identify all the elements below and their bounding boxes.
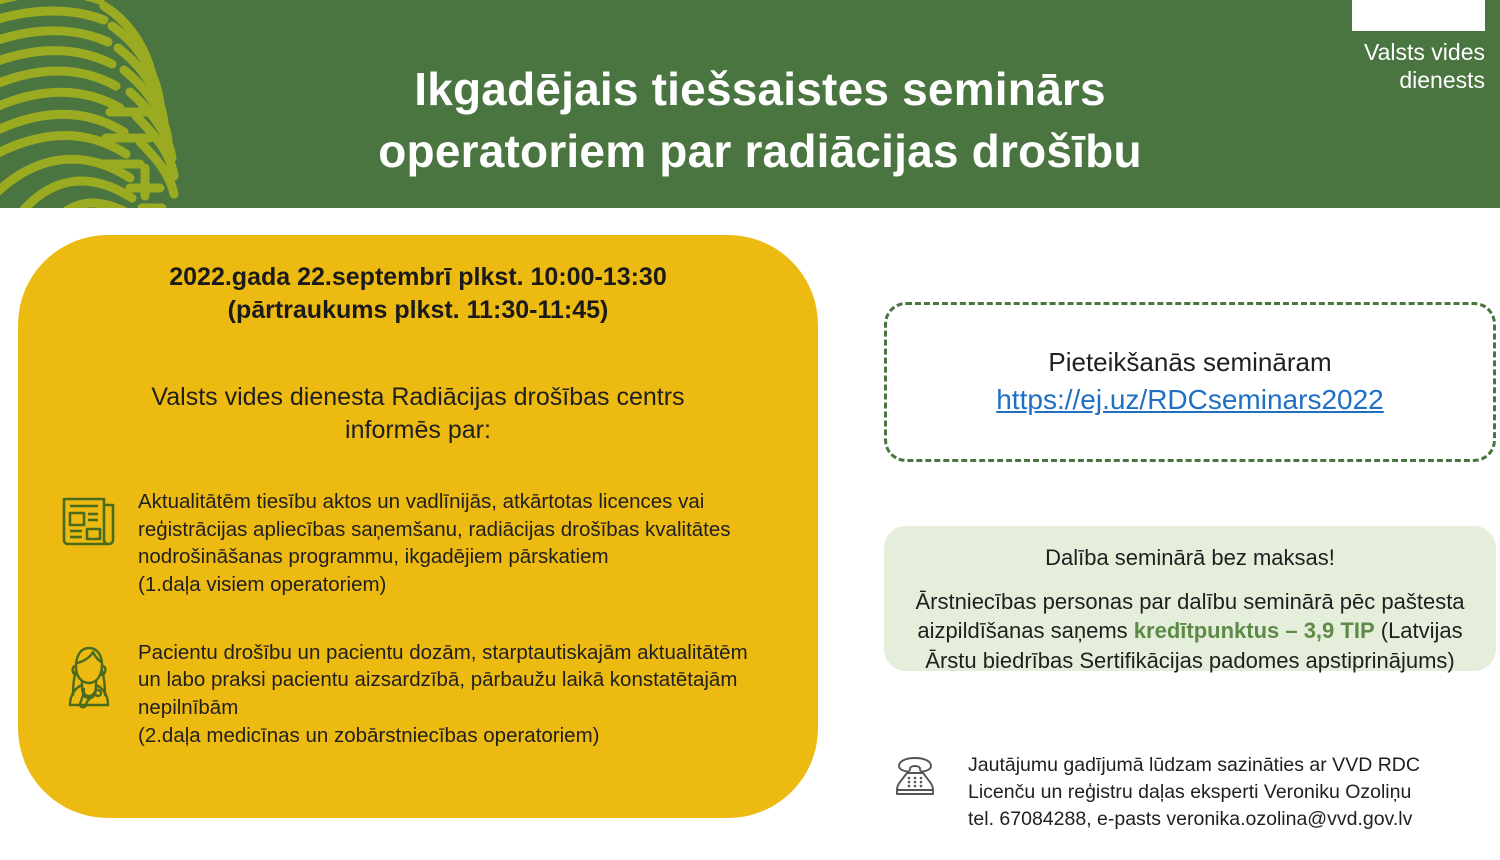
free-participation-text: Dalība seminārā bez maksas!: [896, 544, 1484, 573]
topic-1-line-2: reģistrācijas apliecības saņemšanu, radi…: [138, 516, 731, 544]
topic-1-note: (1.daļa visiem operatoriem): [138, 571, 731, 599]
brand-block: Valsts vides dienests: [1335, 0, 1485, 94]
credit-info-box: Dalība seminārā bez maksas! Ārstniecības…: [884, 526, 1496, 671]
topic-2-line-3: nepilnībām: [138, 694, 748, 722]
credit-line-3: Ārstu biedrības Sertifikācijas padomes a…: [896, 646, 1484, 675]
contact-text: Jautājumu gadījumā lūdzam sazināties ar …: [968, 752, 1420, 833]
seminar-break-line: (pārtraukums plkst. 11:30-11:45): [62, 294, 774, 327]
telephone-icon: [890, 752, 942, 798]
signup-label: Pieteikšanās semināram: [1048, 346, 1331, 380]
topic-2-line-1: Pacientu drošību un pacientu dozām, star…: [138, 639, 748, 667]
seminar-details-card: 2022.gada 22.septembrī plkst. 10:00-13:3…: [18, 235, 818, 818]
contact-line-2: Licenču un reģistru daļas eksperti Veron…: [968, 779, 1420, 806]
brand-name: Valsts vides dienests: [1335, 39, 1485, 94]
signup-link[interactable]: https://ej.uz/RDCseminars2022: [996, 382, 1384, 418]
credit-line-2: aizpildīšanas saņems kredītpunktus – 3,9…: [896, 616, 1484, 645]
topic-item-1-text: Aktualitātēm tiesību aktos un vadlīnijās…: [138, 488, 731, 599]
doctor-icon: [60, 639, 122, 709]
topic-item-2-text: Pacientu drošību un pacientu dozām, star…: [138, 639, 748, 750]
contact-block: Jautājumu gadījumā lūdzam sazināties ar …: [890, 752, 1500, 833]
page-title-line-2: operatoriem par radiācijas drošību: [250, 120, 1270, 182]
slide-root: Ikgadējais tiešsaistes seminārs operator…: [0, 0, 1500, 860]
page-title: Ikgadējais tiešsaistes seminārs operator…: [250, 58, 1270, 182]
topic-1-line-3: nodrošināšanas programmu, ikgadējiem pār…: [138, 543, 731, 571]
topic-1-line-1: Aktualitātēm tiesību aktos un vadlīnijās…: [138, 488, 731, 516]
credit-highlight: kredītpunktus – 3,9 TIP: [1134, 618, 1375, 643]
credit-line-2-suffix: (Latvijas: [1375, 618, 1463, 643]
seminar-intro-line-1: Valsts vides dienesta Radiācijas drošība…: [90, 381, 746, 414]
seminar-intro-line-2: informēs par:: [90, 414, 746, 447]
page-title-line-1: Ikgadējais tiešsaistes seminārs: [250, 58, 1270, 120]
vvd-logo-placeholder-icon: [1352, 0, 1485, 31]
credit-line-1: Ārstniecības personas par dalību seminār…: [896, 587, 1484, 616]
newspaper-icon: [60, 488, 122, 550]
seminar-datetime: 2022.gada 22.septembrī plkst. 10:00-13:3…: [52, 261, 784, 327]
contact-line-1: Jautājumu gadījumā lūdzam sazināties ar …: [968, 752, 1420, 779]
signup-box[interactable]: Pieteikšanās semināram https://ej.uz/RDC…: [884, 302, 1496, 462]
topic-2-note: (2.daļa medicīnas un zobārstniecības ope…: [138, 722, 748, 750]
topic-2-line-2: un labo praksi pacientu aizsardzībā, pār…: [138, 666, 748, 694]
contact-line-3: tel. 67084288, e-pasts veronika.ozolina@…: [968, 806, 1420, 833]
brand-name-line-2: dienests: [1335, 67, 1485, 95]
seminar-date-line: 2022.gada 22.septembrī plkst. 10:00-13:3…: [62, 261, 774, 294]
credit-info-text: Ārstniecības personas par dalību seminār…: [896, 587, 1484, 675]
header-banner: Ikgadējais tiešsaistes seminārs operator…: [0, 0, 1500, 208]
seminar-intro: Valsts vides dienesta Radiācijas drošība…: [52, 381, 784, 446]
credit-line-2-prefix: aizpildīšanas saņems: [917, 618, 1133, 643]
fingerprint-pattern-icon: [0, 0, 205, 208]
topic-item-2: Pacientu drošību un pacientu dozām, star…: [52, 639, 784, 750]
topic-item-1: Aktualitātēm tiesību aktos un vadlīnijās…: [52, 488, 784, 599]
brand-name-line-1: Valsts vides: [1335, 39, 1485, 67]
